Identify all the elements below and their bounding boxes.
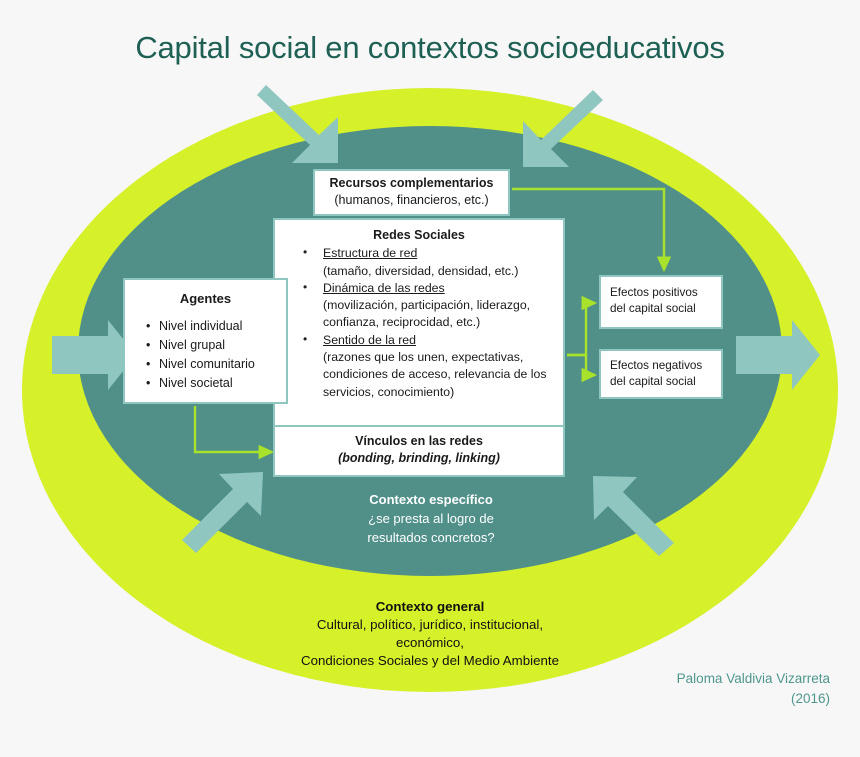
agentes-list: Nivel individual Nivel grupal Nivel comu… [133,317,278,393]
list-item: Nivel societal [146,374,278,393]
contexto-especifico-line2: resultados concretos? [300,528,562,547]
connector-redes-to-efectos-negativos [586,355,595,375]
redes-title: Redes Sociales [281,227,557,244]
redes-bullet-detail: (tamaño, diversidad, densidad, etc.) [323,263,557,280]
box-efectos-negativos[interactable]: Efectos negativos del capital social [599,349,723,399]
list-item: Dinámica de las redes (movilización, par… [281,280,557,332]
efectos-negativos-line1: Efectos negativos [610,358,721,374]
efectos-positivos-line1: Efectos positivos [610,285,721,301]
connector-agentes-to-vinculos [195,406,272,452]
recursos-subtitle: (humanos, financieros, etc.) [315,192,508,209]
efectos-positivos-line2: del capital social [610,301,721,317]
credit-block: Paloma Valdivia Vizarreta (2016) [560,669,830,709]
credit-year: (2016) [560,689,830,709]
contexto-general-line3: Condiciones Sociales y del Medio Ambient… [245,652,615,670]
list-item: Nivel comunitario [146,355,278,374]
box-efectos-positivos[interactable]: Efectos positivos del capital social [599,275,723,329]
vinculos-subtitle: (bonding, brinding, linking) [275,450,563,467]
box-agentes[interactable]: Agentes Nivel individual Nivel grupal Ni… [123,278,288,404]
contexto-especifico-line1: ¿se presta al logro de [300,509,562,528]
contexto-especifico-heading: Contexto específico [300,490,562,509]
agentes-title: Agentes [133,289,278,308]
vinculos-title: Vínculos en las redes [275,433,563,450]
contexto-general-line2: económico, [245,634,615,652]
contexto-general-line1: Cultural, político, jurídico, institucio… [245,616,615,634]
list-item: Sentido de la red (razones que los unen,… [281,332,557,401]
connector-redes-to-efectos-positivos [567,303,595,355]
box-redes-sociales[interactable]: Redes Sociales Estructura de red (tamaño… [273,218,565,427]
redes-bullet-heading: Sentido de la red [323,333,416,347]
contexto-general-label: Contexto general Cultural, político, jur… [245,598,615,670]
box-recursos-complementarios[interactable]: Recursos complementarios (humanos, finan… [313,169,510,216]
credit-author: Paloma Valdivia Vizarreta [560,669,830,689]
list-item: Estructura de red (tamaño, diversidad, d… [281,245,557,280]
contexto-general-heading: Contexto general [245,598,615,616]
contexto-especifico-label: Contexto específico ¿se presta al logro … [300,490,562,547]
redes-bullet-list: Estructura de red (tamaño, diversidad, d… [281,245,557,401]
box-vinculos-en-las-redes[interactable]: Vínculos en las redes (bonding, brinding… [273,427,565,477]
redes-bullet-detail: (movilización, participación, liderazgo,… [323,297,557,332]
diagram-canvas: Capital social en contextos socioeducati… [0,0,860,757]
redes-bullet-heading: Dinámica de las redes [323,281,445,295]
list-item: Nivel grupal [146,336,278,355]
list-item: Nivel individual [146,317,278,336]
recursos-title: Recursos complementarios [315,175,508,192]
redes-bullet-heading: Estructura de red [323,246,417,260]
redes-bullet-detail: (razones que los unen, expectativas, con… [323,349,557,401]
efectos-negativos-line2: del capital social [610,374,721,390]
